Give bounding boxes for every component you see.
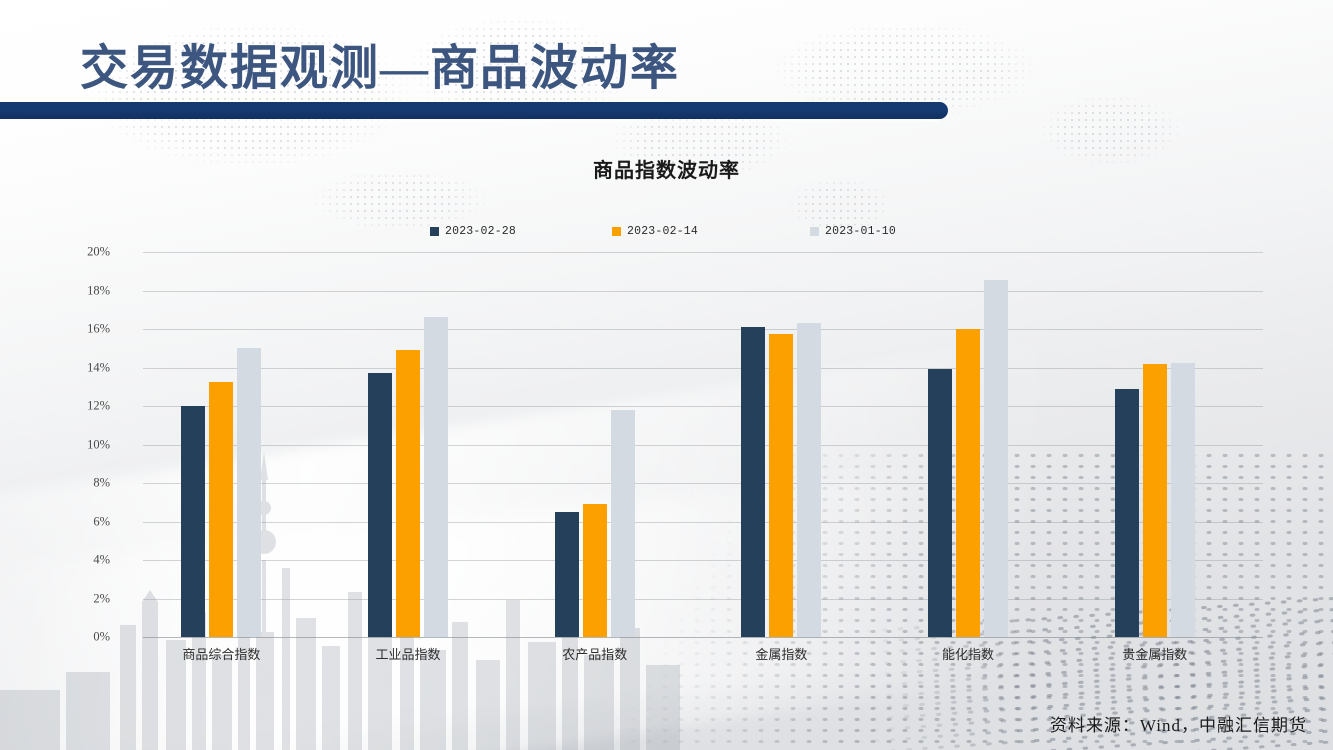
- gridline: [143, 599, 1263, 600]
- bar-0-2: [555, 512, 579, 637]
- x-axis-category-label: 工业品指数: [376, 644, 441, 663]
- slide-header: 交易数据观测—商品波动率: [0, 0, 1333, 130]
- y-axis-tick-label: 10%: [50, 437, 110, 452]
- x-axis-category-label: 金属指数: [755, 644, 807, 663]
- page-title: 交易数据观测—商品波动率: [80, 28, 680, 98]
- legend-swatch-icon: [612, 227, 621, 236]
- bar-1-3: [769, 334, 793, 637]
- bar-0-0: [181, 406, 205, 637]
- bar-0-3: [741, 327, 765, 637]
- legend-item-2[interactable]: 2023-01-10: [810, 225, 896, 238]
- x-axis-category-label: 农产品指数: [562, 644, 627, 663]
- y-axis-tick-label: 12%: [50, 399, 110, 414]
- gridline: [143, 406, 1263, 407]
- bar-1-0: [209, 382, 233, 637]
- chart-container: 商品指数波动率 2023-02-282023-02-142023-01-10 0…: [0, 130, 1333, 690]
- gridline: [143, 483, 1263, 484]
- gridline: [143, 291, 1263, 292]
- title-accent-bar: [0, 102, 948, 119]
- y-axis-tick-label: 6%: [50, 514, 110, 529]
- y-axis-tick-label: 2%: [50, 591, 110, 606]
- x-axis-category-label: 能化指数: [942, 644, 994, 663]
- legend-label: 2023-02-14: [627, 225, 698, 238]
- gridline: [143, 522, 1263, 523]
- y-axis-tick-label: 0%: [50, 630, 110, 645]
- source-note: 资料来源：Wind，中融汇信期货: [1050, 711, 1307, 736]
- legend-item-0[interactable]: 2023-02-28: [430, 225, 516, 238]
- slide-canvas: 交易数据观测—商品波动率 商品指数波动率 2023-02-282023-02-1…: [0, 0, 1333, 750]
- y-axis-tick-label: 16%: [50, 322, 110, 337]
- bar-1-1: [396, 350, 420, 637]
- bar-2-3: [797, 323, 821, 637]
- gridline: [143, 637, 1263, 638]
- gridline: [143, 368, 1263, 369]
- x-axis-category-label: 贵金属指数: [1122, 644, 1187, 663]
- legend-label: 2023-02-28: [445, 225, 516, 238]
- y-axis-tick-label: 18%: [50, 283, 110, 298]
- legend-item-1[interactable]: 2023-02-14: [612, 225, 698, 238]
- bar-0-1: [368, 373, 392, 637]
- legend-swatch-icon: [430, 227, 439, 236]
- bar-2-5: [1171, 363, 1195, 637]
- chart-legend: 2023-02-282023-02-142023-01-10: [430, 225, 910, 245]
- bar-2-4: [984, 280, 1008, 637]
- y-axis-tick-label: 4%: [50, 553, 110, 568]
- chart-plot-area: 0%2%4%6%8%10%12%14%16%18%20%商品综合指数工业品指数农…: [143, 252, 1263, 637]
- title-accent-bar-highlight: [0, 119, 940, 122]
- y-axis-tick-label: 20%: [50, 245, 110, 260]
- bar-2-1: [424, 317, 448, 638]
- gridline: [143, 329, 1263, 330]
- y-axis-tick-label: 8%: [50, 476, 110, 491]
- gridline: [143, 445, 1263, 446]
- x-axis-category-label: 商品综合指数: [182, 644, 260, 663]
- bar-1-2: [583, 504, 607, 637]
- bar-1-5: [1143, 364, 1167, 637]
- gridline: [143, 252, 1263, 253]
- y-axis-tick-label: 14%: [50, 360, 110, 375]
- bar-1-4: [956, 329, 980, 637]
- bar-0-4: [928, 369, 952, 637]
- legend-label: 2023-01-10: [825, 225, 896, 238]
- bar-0-5: [1115, 389, 1139, 637]
- gridline: [143, 560, 1263, 561]
- chart-title: 商品指数波动率: [0, 154, 1333, 183]
- bar-2-0: [237, 348, 261, 637]
- bar-2-2: [611, 410, 635, 637]
- legend-swatch-icon: [810, 227, 819, 236]
